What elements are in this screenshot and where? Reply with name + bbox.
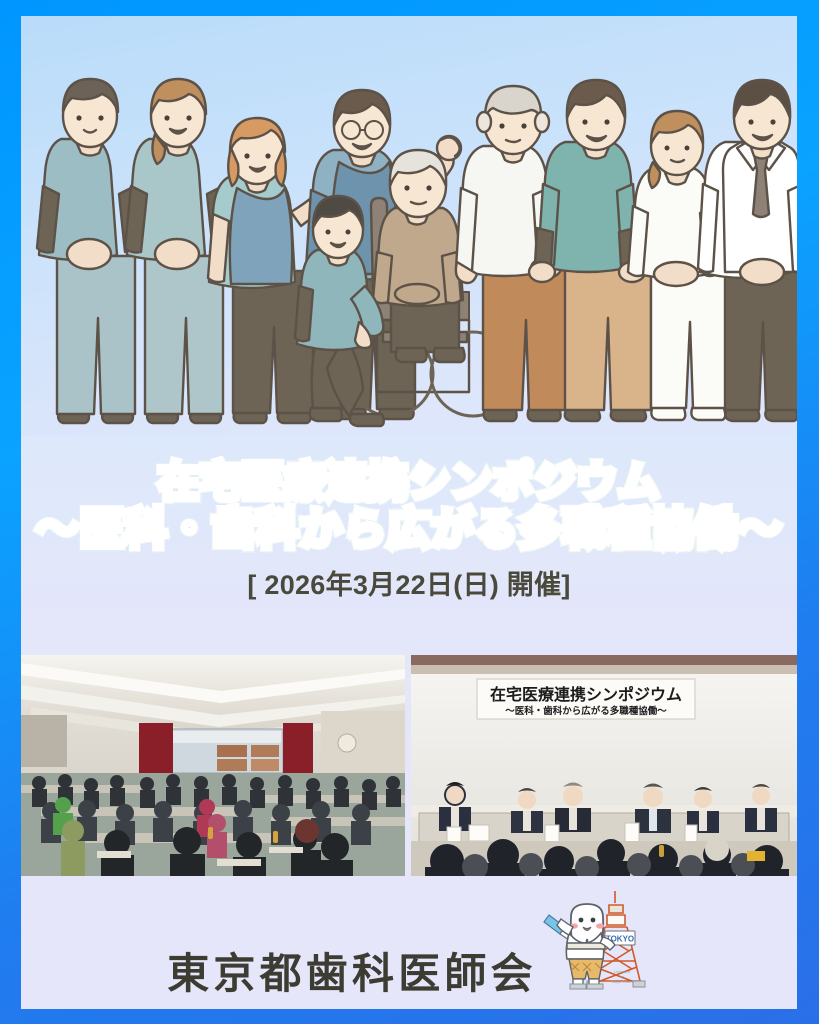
brand-row: 東京都歯科医師会 — [21, 887, 797, 995]
panel-banner-line2: 〜医科・歯科から広がる多職種協働〜 — [505, 705, 667, 717]
panel-banner-line1: 在宅医療連携シンポジウム — [490, 685, 682, 704]
title-line-1: 在宅医療連携シンポジウム — [21, 460, 797, 506]
poster-root: 在宅医療連携シンポジウム 在宅医療連携シンポジウム 〜医科・歯科から広がる多職種… — [0, 0, 819, 1024]
poster-inner: 在宅医療連携シンポジウム 在宅医療連携シンポジウム 〜医科・歯科から広がる多職種… — [21, 16, 797, 1009]
event-date: [ 2026年3月22日(日) 開催] — [21, 563, 797, 602]
illustration-care-team — [21, 16, 797, 436]
title-line-2-wrap: 〜医科・歯科から広がる多職種協働〜 〜医科・歯科から広がる多職種協働〜 — [21, 506, 797, 554]
title-line-1-wrap: 在宅医療連携シンポジウム 在宅医療連携シンポジウム — [21, 460, 797, 506]
symposium-audience-photo — [21, 655, 405, 876]
title-line-2: 〜医科・歯科から広がる多職種協働〜 — [21, 506, 797, 554]
tooth-mascot-with-tokyo-tower-icon: TOKYO — [543, 887, 651, 995]
footer-brand: 東京都歯科医師会 — [21, 876, 797, 1009]
title-block: 在宅医療連携シンポジウム 在宅医療連携シンポジウム 〜医科・歯科から広がる多職種… — [21, 460, 797, 602]
license-credit-line-3: Tokyo Tower — [611, 979, 634, 984]
photo-row: 在宅医療連携シンポジウム 〜医科・歯科から広がる多職種協働〜 — [21, 655, 797, 876]
organization-name: 東京都歯科医師会 — [167, 953, 537, 995]
symposium-panel-photo: 在宅医療連携シンポジウム 〜医科・歯科から広がる多職種協働〜 — [411, 655, 797, 876]
